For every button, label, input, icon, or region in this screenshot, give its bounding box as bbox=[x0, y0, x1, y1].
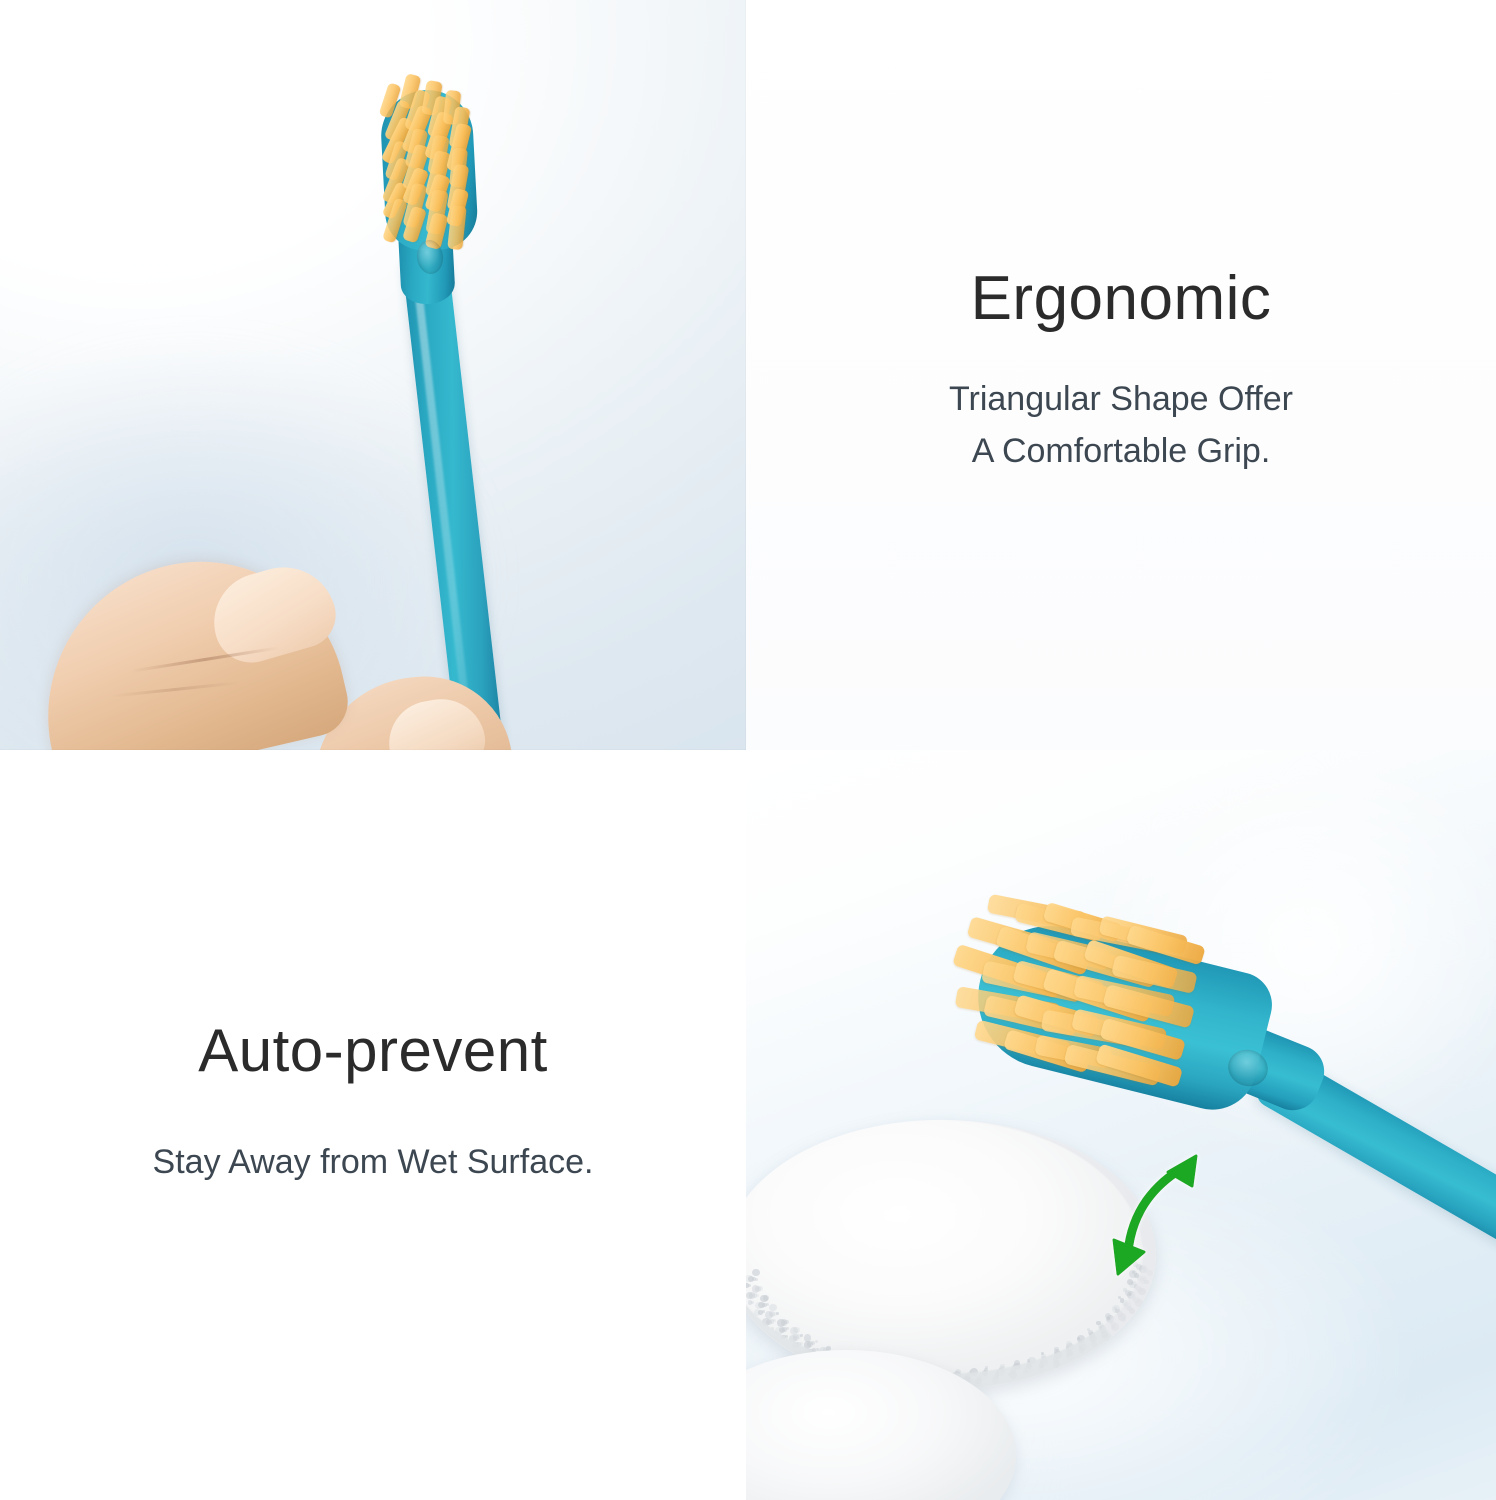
toothbrush-bristles bbox=[369, 78, 473, 240]
panel-divider-horizontal bbox=[0, 749, 746, 750]
subline-line-1: Stay Away from Wet Surface. bbox=[153, 1143, 594, 1181]
double-curved-arrow-icon bbox=[1076, 1140, 1256, 1300]
panel-divider-vertical bbox=[745, 0, 746, 750]
headline-ergonomic: Ergonomic bbox=[971, 268, 1272, 330]
panel-product-photo-auto-prevent bbox=[746, 750, 1496, 1500]
subline-auto-prevent: Stay Away from Wet Surface. bbox=[153, 1137, 594, 1188]
subline-line-2: A Comfortable Grip. bbox=[972, 432, 1271, 470]
panel-copy-ergonomic: Ergonomic Triangular Shape Offer A Comfo… bbox=[746, 0, 1496, 750]
panel-copy-auto-prevent: Auto-prevent Stay Away from Wet Surface. bbox=[0, 750, 746, 1500]
toothbrush-bristles bbox=[928, 878, 1290, 1132]
headline-auto-prevent: Auto-prevent bbox=[198, 1021, 548, 1081]
subline-line-1: Triangular Shape Offer bbox=[949, 380, 1293, 418]
hand-holding-brush bbox=[0, 540, 510, 750]
panel-product-photo-grip bbox=[0, 0, 746, 750]
pivot-motion-annotation bbox=[1076, 1140, 1256, 1300]
feature-board: Ergonomic Triangular Shape Offer A Comfo… bbox=[0, 0, 1496, 1500]
subline-ergonomic: Triangular Shape Offer A Comfortable Gri… bbox=[949, 374, 1293, 477]
